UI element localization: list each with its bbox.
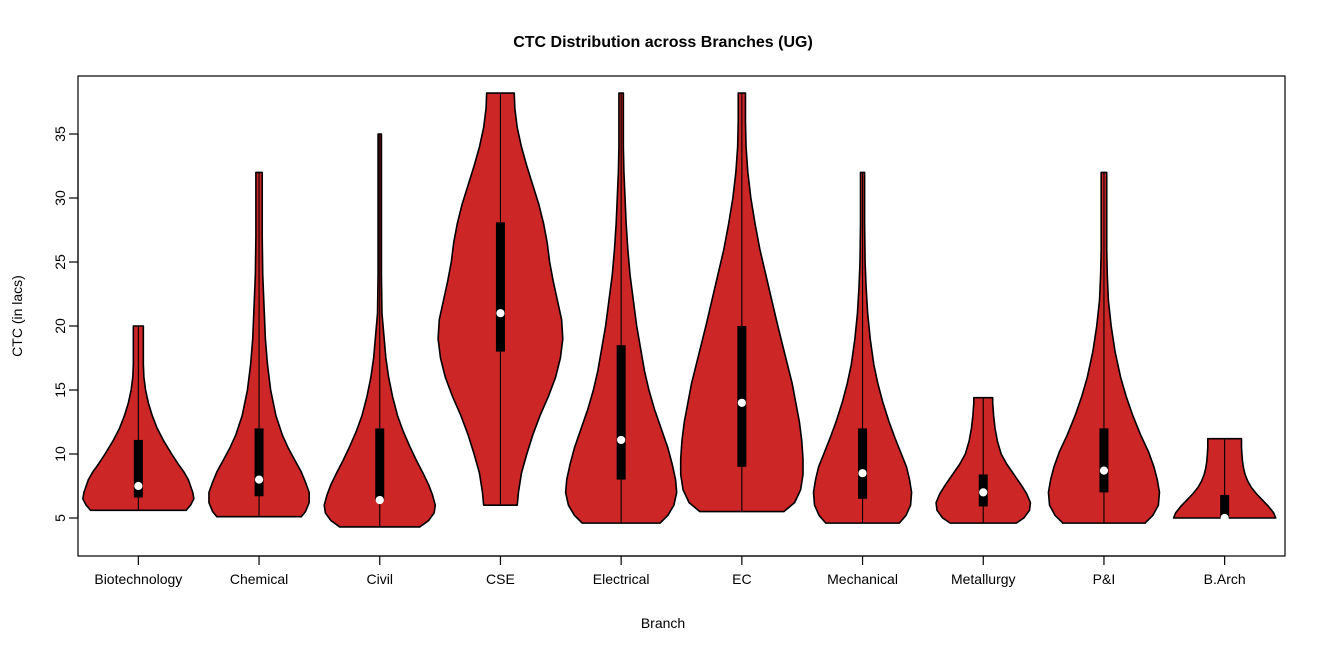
x-tick-label-chemical: Chemical (230, 571, 288, 587)
x-tick-label-cse: CSE (486, 571, 515, 587)
x-tick-label-electrical: Electrical (593, 571, 650, 587)
x-tick-label-metallurgy: Metallurgy (951, 571, 1016, 587)
y-tick-label: 25 (52, 254, 68, 270)
median-marker (134, 482, 142, 490)
y-tick-label: 5 (52, 514, 68, 522)
median-marker (376, 496, 384, 504)
x-tick-label-biotechnology: Biotechnology (94, 571, 182, 587)
median-marker (738, 399, 746, 407)
y-tick-label: 15 (52, 382, 68, 398)
median-marker (1221, 514, 1229, 522)
y-axis-title: CTC (in lacs) (9, 275, 25, 357)
iqr-box (496, 222, 505, 351)
median-marker (979, 488, 987, 496)
x-tick-label-p-i: P&I (1093, 571, 1116, 587)
iqr-box (375, 428, 384, 500)
y-tick-label: 35 (52, 126, 68, 142)
iqr-box (858, 428, 867, 498)
x-axis-title: Branch (641, 615, 685, 631)
x-tick-label-mechanical: Mechanical (827, 571, 898, 587)
x-tick-label-civil: Civil (367, 571, 393, 587)
y-tick-label: 20 (52, 318, 68, 334)
median-marker (617, 436, 625, 444)
violin-chart-container: CTC Distribution across Branches (UG) 51… (0, 0, 1327, 653)
median-marker (255, 476, 263, 484)
y-tick-label: 10 (52, 446, 68, 462)
y-tick-label: 30 (52, 190, 68, 206)
page-title: CTC Distribution across Branches (UG) (513, 34, 813, 51)
iqr-box (617, 345, 626, 479)
violin-plot-svg: CTC Distribution across Branches (UG) 51… (0, 0, 1327, 653)
iqr-box (737, 326, 746, 467)
iqr-box (1099, 428, 1108, 492)
chart-background (0, 0, 1327, 653)
median-marker (858, 469, 866, 477)
iqr-box (255, 428, 264, 496)
median-marker (1100, 467, 1108, 475)
x-tick-label-b-arch: B.Arch (1204, 571, 1246, 587)
median-marker (496, 309, 504, 317)
x-tick-label-ec: EC (732, 571, 751, 587)
